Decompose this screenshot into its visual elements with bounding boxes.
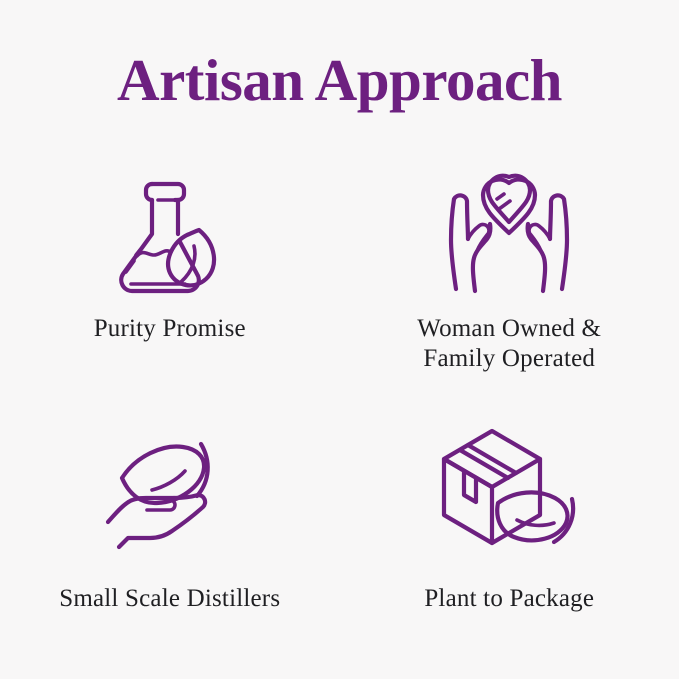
feature-label: Woman Owned & Family Operated: [417, 314, 601, 374]
page-title: Artisan Approach: [0, 46, 679, 114]
feature-item-plant-to-package[interactable]: Plant to Package: [340, 400, 679, 650]
flask-leaf-icon: [95, 164, 245, 296]
feature-item-small-scale-distillers[interactable]: Small Scale Distillers: [0, 400, 340, 650]
feature-label: Purity Promise: [94, 314, 246, 344]
feature-item-purity-promise[interactable]: Purity Promise: [0, 150, 340, 400]
box-leaf-icon: [434, 422, 584, 554]
feature-label: Small Scale Distillers: [59, 584, 280, 614]
feature-item-woman-owned[interactable]: Woman Owned & Family Operated: [340, 150, 679, 400]
hand-leaf-icon: [95, 422, 245, 554]
hands-heart-icon: [434, 164, 584, 296]
feature-label: Plant to Package: [424, 584, 594, 614]
feature-grid: Purity Promise: [0, 150, 679, 650]
artisan-approach-panel: Artisan Approach: [0, 0, 679, 679]
